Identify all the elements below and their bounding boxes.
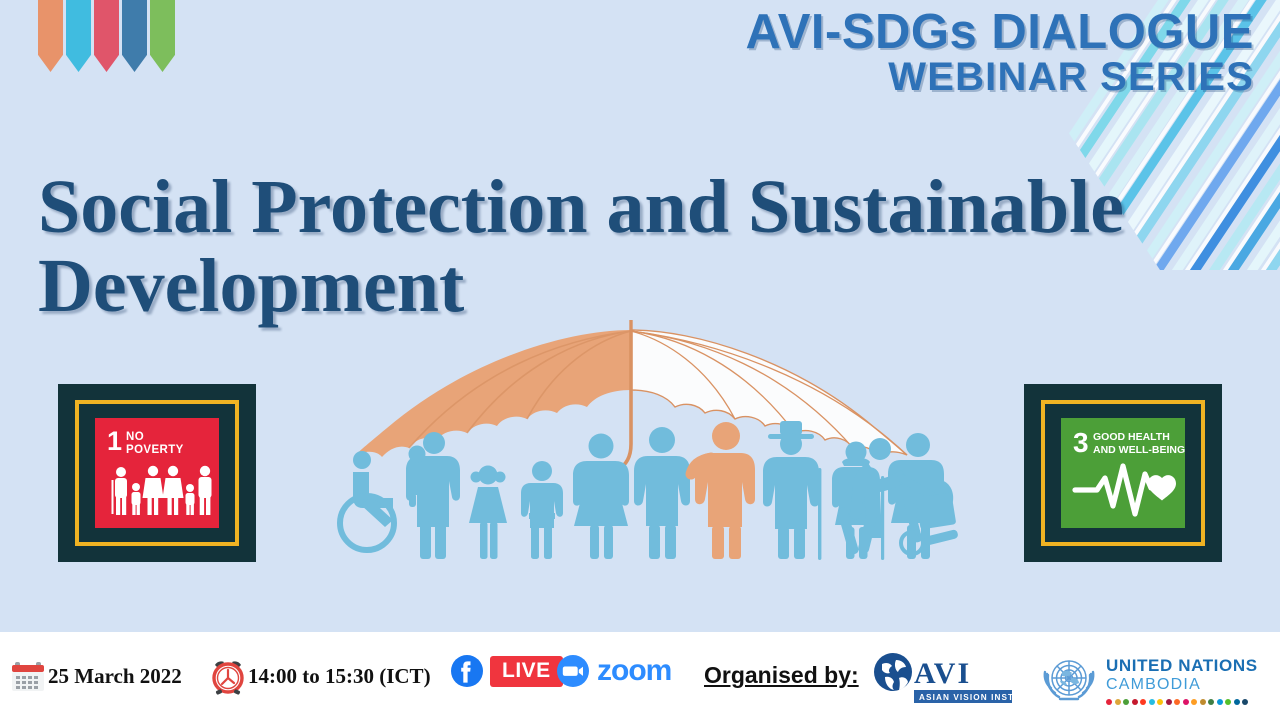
sdg-color-dot (1140, 699, 1146, 705)
logo-ribbon-1 (38, 0, 63, 72)
logo-ribbon-5 (150, 0, 175, 72)
umbrella-holder-figure (691, 422, 755, 559)
logo-ribbon-2 (66, 0, 91, 72)
alarm-clock-icon (208, 656, 248, 696)
girl-figure (469, 466, 507, 560)
sdg-color-dot (1157, 699, 1163, 705)
boy-figure (521, 461, 563, 559)
svg-text:NO: NO (126, 431, 144, 443)
organised-by-label: Organised by: (704, 662, 859, 689)
sdg-color-dot (1225, 699, 1231, 705)
live-badge: LIVE (490, 656, 563, 687)
header-title: AVI-SDGs DIALOGUE (745, 8, 1254, 56)
sdg-badge-1: 1 NO POVERTY (58, 384, 256, 562)
sdg-color-dot (1234, 699, 1240, 705)
facebook-live-item[interactable]: LIVE (450, 654, 563, 688)
un-line2: CAMBODIA (1106, 677, 1258, 693)
farmer-with-hat-figure (763, 421, 821, 560)
sdg-badge-1-gold-border: 1 NO POVERTY (75, 400, 239, 546)
date-item: 25 March 2022 (8, 656, 182, 696)
sdg-color-dot (1242, 699, 1248, 705)
zoom-item[interactable]: zoom (556, 654, 671, 688)
time-item: 14:00 to 15:30 (ICT) (208, 656, 431, 696)
umbrella-canopy-left (355, 330, 631, 457)
zoom-label: zoom (597, 654, 671, 688)
mother-with-baby-figure (406, 432, 460, 559)
footer-bar: 25 March 2022 14:00 to 15:30 (ICT) (0, 632, 1280, 720)
sdg-color-dot (1174, 699, 1180, 705)
woman-figure (573, 434, 629, 560)
calendar-icon (8, 656, 48, 696)
sdg-color-dot (1106, 699, 1112, 705)
sdg-badge-3-gold-border: 3 GOOD HEALTH AND WELL-BEING (1041, 400, 1205, 546)
un-cambodia-logo: UNITED NATIONS CAMBODIA (1038, 652, 1258, 710)
logo-ribbon-4 (122, 0, 147, 72)
zoom-camera-icon (556, 654, 590, 688)
sdg-color-dot (1123, 699, 1129, 705)
svg-text:1: 1 (107, 426, 122, 456)
un-text-block: UNITED NATIONS CAMBODIA (1106, 657, 1258, 705)
sdg-color-dot (1149, 699, 1155, 705)
header-subtitle: WEBINAR SERIES (745, 58, 1254, 97)
avi-logo: AVI ASIAN VISION INSTITUTE (872, 650, 1017, 711)
sdg-badge-1-tile: 1 NO POVERTY (95, 418, 219, 528)
svg-text:AVI: AVI (914, 657, 971, 690)
sdg-color-dot (1115, 699, 1121, 705)
svg-text:GOOD HEALTH: GOOD HEALTH (1093, 431, 1170, 443)
date-text: 25 March 2022 (48, 664, 182, 689)
sdg-badge-3-tile: 3 GOOD HEALTH AND WELL-BEING (1061, 418, 1185, 528)
united-nations-emblem-icon (1038, 652, 1100, 710)
man-figure (634, 427, 690, 559)
svg-text:AND WELL-BEING: AND WELL-BEING (1093, 444, 1185, 456)
svg-text:ASIAN VISION INSTITUTE: ASIAN VISION INSTITUTE (919, 693, 1017, 702)
sdg-color-dot (1183, 699, 1189, 705)
avi-ribbon-logo (38, 0, 175, 72)
time-text: 14:00 to 15:30 (ICT) (248, 664, 431, 689)
svg-text:POVERTY: POVERTY (126, 444, 184, 456)
facebook-icon (450, 654, 484, 688)
un-line1: UNITED NATIONS (1106, 657, 1258, 674)
sdg-color-dot (1132, 699, 1138, 705)
svg-text:3: 3 (1073, 427, 1089, 458)
header-block: AVI-SDGs DIALOGUE WEBINAR SERIES (745, 8, 1254, 97)
wheelchair-user-figure (340, 451, 394, 550)
sdg-color-dot (1208, 699, 1214, 705)
page-title: Social Protection and Sustainable Develo… (38, 168, 1158, 326)
sdg-color-dots (1106, 699, 1258, 705)
sdg-badge-3: 3 GOOD HEALTH AND WELL-BEING (1024, 384, 1222, 562)
sdg-color-dot (1200, 699, 1206, 705)
worker-with-handcart-figure (838, 435, 958, 565)
logo-ribbon-3 (94, 0, 119, 72)
sdg-color-dot (1217, 699, 1223, 705)
sdg-color-dot (1191, 699, 1197, 705)
sdg-color-dot (1166, 699, 1172, 705)
webinar-poster: AVI-SDGs DIALOGUE WEBINAR SERIES Social … (0, 0, 1280, 720)
